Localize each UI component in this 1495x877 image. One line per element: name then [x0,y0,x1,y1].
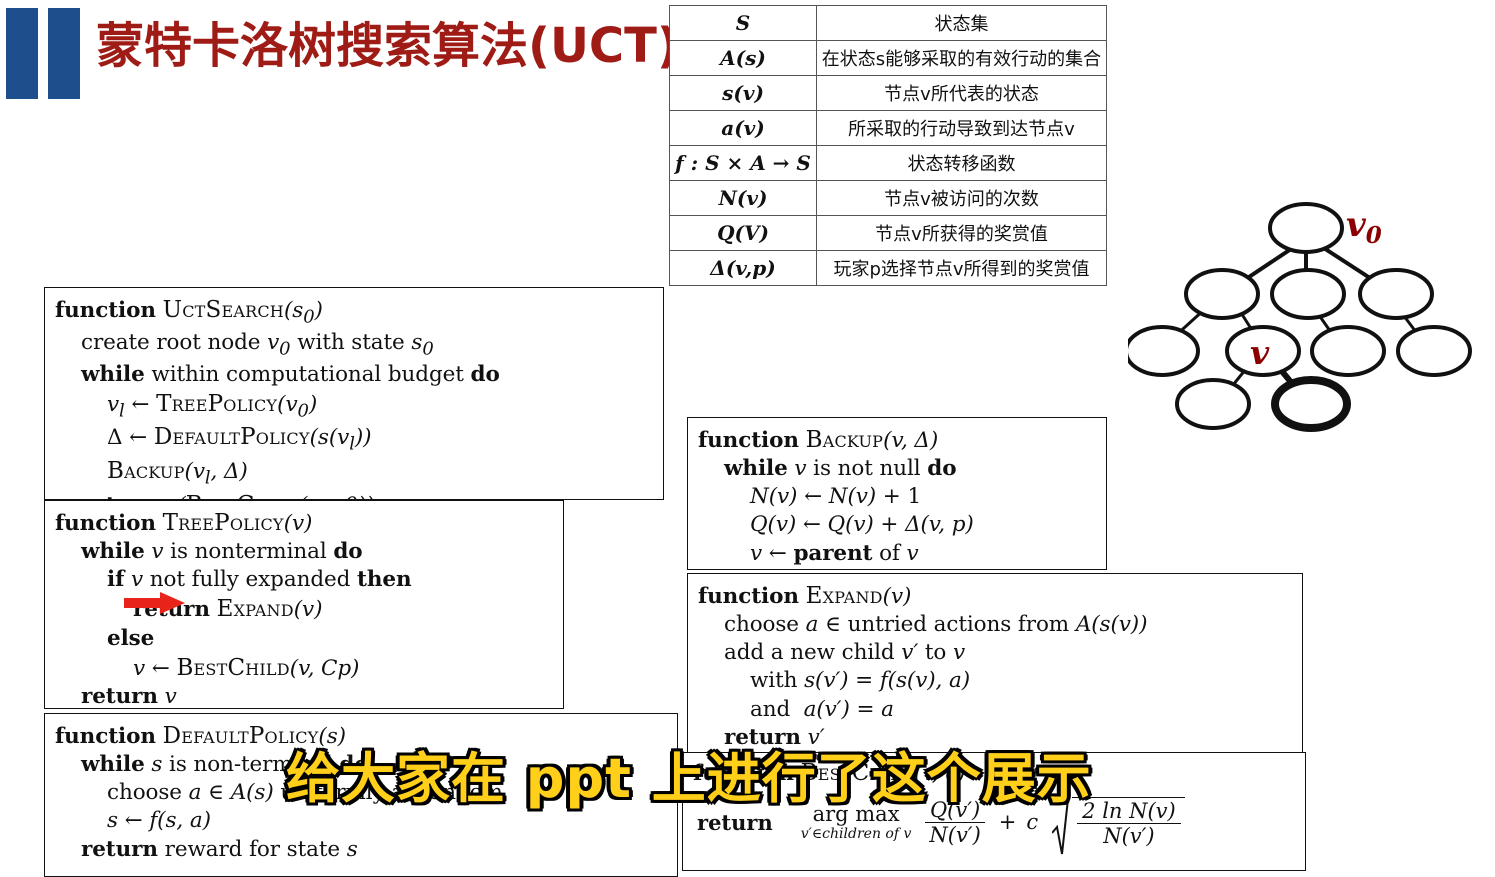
table-row: f : S × A → S 状态转移函数 [670,146,1107,181]
tree-node [1398,327,1470,375]
pseudocode-box-backup: function Backup(v, Δ) while v is not nul… [687,417,1107,570]
code-line: N(v) ← N(v) + 1 [698,483,1106,511]
code-line: with s(v′) = f(s(v), a) [698,667,1302,695]
code-line: Δ ← DefaultPolicy(s(vl)) [55,422,663,456]
code-line: Q(v) ← Q(v) + Δ(v, p) [698,511,1106,539]
accent-bar-right [48,8,80,99]
notation-symbol: s(v) [670,76,817,111]
code-line: return reward for state s [55,836,677,864]
tree-label-root: v0 [1346,205,1382,249]
code-line: else [55,625,563,653]
notation-symbol: f : S × A → S [670,146,817,181]
table-row: s(v) 节点v所代表的状态 [670,76,1107,111]
exploitation-denominator: N(v′) [924,823,985,846]
mcts-tree-diagram: v0 v [1128,196,1488,446]
subtitle-caption: 给大家在 ppt 上进行了这个展示 [286,734,1216,813]
pseudocode-box-treepolicy: function TreePolicy(v) while v is nonter… [44,500,564,709]
return-keyword: return [697,810,773,835]
notation-symbol: a(v) [670,111,817,146]
table-row: N(v) 节点v被访问的次数 [670,181,1107,216]
notation-symbol: S [670,6,817,41]
notation-symbol: Q(V) [670,216,817,251]
tree-node [1312,327,1384,375]
tree-node [1128,327,1198,375]
exploration-coefficient: c [1026,810,1038,834]
code-line: while within computational budget do [55,361,663,389]
notation-description: 状态转移函数 [817,146,1107,181]
argmax-subscript: v′∈children of v [801,827,912,841]
code-line: function Expand(v) [698,581,1302,611]
accent-bar-left [6,8,38,99]
code-line: if v not fully expanded then [55,566,563,594]
red-arrow-icon [124,592,186,614]
tree-node [1177,380,1249,428]
table-row: A(s) 在状态s能够采取的有效行动的集合 [670,41,1107,76]
table-row: Q(V) 节点v所获得的奖赏值 [670,216,1107,251]
tree-node-root [1270,204,1342,252]
notation-description: 节点v所获得的奖赏值 [817,216,1107,251]
notation-description: 玩家p选择节点v所得到的奖赏值 [817,251,1107,286]
notation-description: 在状态s能够采取的有效行动的集合 [817,41,1107,76]
tree-node [1272,270,1344,318]
code-line: and a(v′) = a [698,696,1302,724]
code-line: add a new child v′ to v [698,639,1302,667]
code-line: create root node v0 with state s0 [55,329,663,361]
exploration-denominator: N(v′) [1098,824,1159,847]
pseudocode-box-uctsearch: function UctSearch(s0) create root node … [44,287,664,500]
tree-label-v: v [1250,333,1270,372]
table-row: Δ(v,p) 玩家p选择节点v所得到的奖赏值 [670,251,1107,286]
code-line: function TreePolicy(v) [55,508,563,538]
notation-table: S 状态集 A(s) 在状态s能够采取的有效行动的集合 s(v) 节点v所代表的… [669,5,1107,286]
code-line: while v is nonterminal do [55,538,563,566]
tree-node [1360,270,1432,318]
notation-description: 所采取的行动导致到达节点v [817,111,1107,146]
code-line: v ← BestChild(v, Cp) [55,653,563,683]
plus-operator: + [999,810,1017,834]
table-row: a(v) 所采取的行动导致到达节点v [670,111,1107,146]
table-row: S 状态集 [670,6,1107,41]
code-line: return v [55,683,563,711]
code-line: choose a ∈ untried actions from A(s(v)) [698,611,1302,639]
code-line: while v is not null do [698,455,1106,483]
code-line: function Backup(v, Δ) [698,425,1106,455]
code-line: vl ← TreePolicy(v0) [55,389,663,423]
tree-node-new [1275,380,1347,428]
notation-description: 状态集 [817,6,1107,41]
code-line: v ← parent of v [698,540,1106,568]
notation-description: 节点v被访问的次数 [817,181,1107,216]
code-line: Backup(vl, Δ) [55,456,663,490]
notation-symbol: A(s) [670,41,817,76]
notation-symbol: Δ(v,p) [670,251,817,286]
notation-symbol: N(v) [670,181,817,216]
tree-node [1186,270,1258,318]
notation-description: 节点v所代表的状态 [817,76,1107,111]
page-title: 蒙特卡洛树搜索算法(UCT) [96,20,679,73]
code-line: function UctSearch(s0) [55,295,663,329]
